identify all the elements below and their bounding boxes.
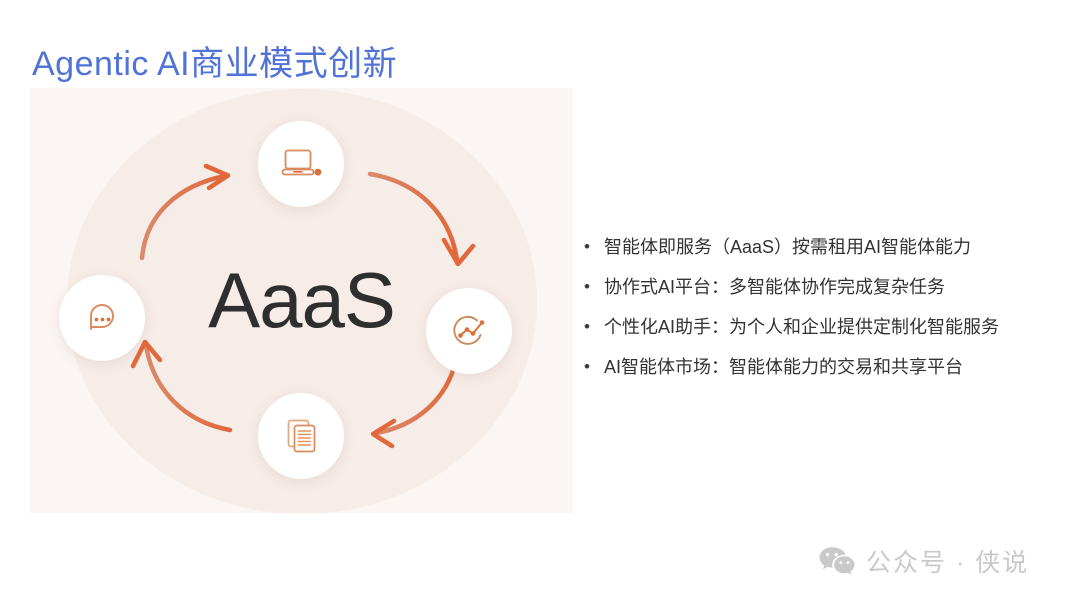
bullet-marker: • (584, 352, 604, 382)
feature-bullet-list: • 智能体即服务（AaaS）按需租用AI智能体能力 • 协作式AI平台：多智能体… (584, 232, 1064, 392)
chat-bubble-icon (83, 299, 121, 337)
list-item-label: AI智能体市场：智能体能力的交易和共享平台 (604, 352, 963, 382)
arrow-bottom-to-left (133, 342, 230, 430)
aaas-cycle-diagram: AaaS (30, 88, 573, 513)
list-item-label: 智能体即服务（AaaS）按需租用AI智能体能力 (604, 232, 971, 262)
node-right-analytics[interactable] (426, 288, 512, 374)
analytics-chart-icon (449, 312, 489, 350)
page-title: Agentic AI商业模式创新 (32, 36, 397, 85)
node-top-laptop[interactable] (258, 121, 344, 207)
wechat-icon (818, 545, 856, 577)
watermark: 公众号 · 侠说 (818, 543, 1029, 579)
list-item: • 个性化AI助手：为个人和企业提供定制化智能服务 (584, 312, 1064, 352)
arrow-top-to-right (370, 174, 473, 264)
list-item: • 智能体即服务（AaaS）按需租用AI智能体能力 (584, 232, 1064, 272)
list-item-label: 协作式AI平台：多智能体协作完成复杂任务 (604, 272, 945, 302)
diagram-stage: AaaS (30, 88, 573, 513)
watermark-label: 公众号 · 侠说 (866, 543, 1029, 579)
documents-icon (282, 416, 320, 456)
list-item: • 协作式AI平台：多智能体协作完成复杂任务 (584, 272, 1064, 312)
list-item: • AI智能体市场：智能体能力的交易和共享平台 (584, 352, 1064, 392)
laptop-icon (280, 147, 322, 181)
node-left-chat[interactable] (59, 275, 145, 361)
list-item-label: 个性化AI助手：为个人和企业提供定制化智能服务 (604, 312, 999, 342)
arrow-left-to-top (142, 166, 228, 258)
bullet-marker: • (584, 312, 604, 342)
bullet-marker: • (584, 232, 604, 262)
node-bottom-documents[interactable] (258, 393, 344, 479)
bullet-marker: • (584, 272, 604, 302)
